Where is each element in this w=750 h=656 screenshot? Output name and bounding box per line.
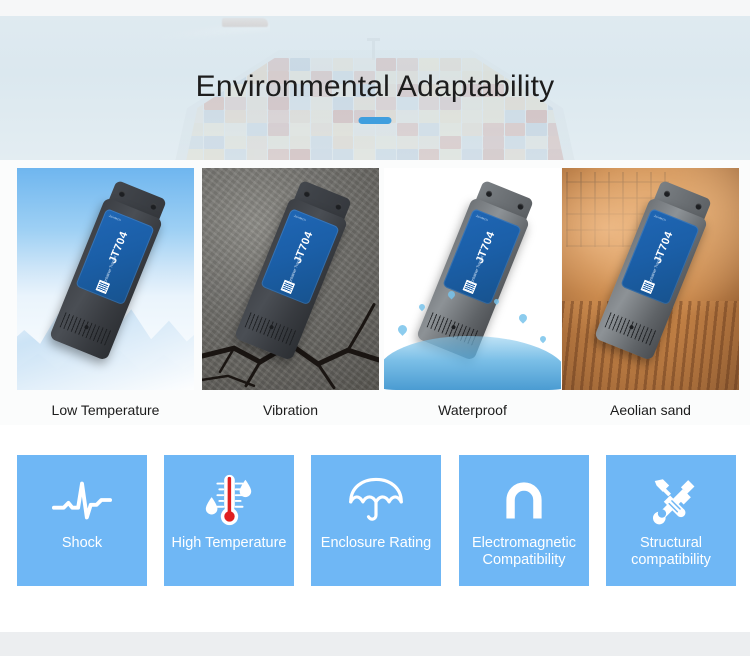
feature-card-structural-compatibility[interactable]: Structural compatibility: [606, 455, 736, 586]
feature-card-label: Structural compatibility: [606, 535, 736, 569]
bottom-white-area: [0, 610, 750, 632]
mount-hole-right: [516, 203, 524, 211]
mount-hole-right: [149, 203, 157, 211]
environmental-adaptability-page: Environmental Adaptability Jointech: [0, 0, 750, 656]
photo-cards-row: Jointech JT704 Container Tracker Low Tem…: [0, 160, 750, 425]
device-qr-code: [95, 280, 109, 294]
device-brand-text: Jointech: [293, 214, 306, 222]
cargo-container: [483, 136, 504, 149]
water-droplet: [539, 335, 547, 343]
cargo-container: [419, 123, 440, 136]
feature-card-electromagnetic-compatibility[interactable]: Electromagnetic Compatibility: [459, 455, 589, 586]
cargo-container: [483, 110, 504, 123]
feature-card-label: Shock: [57, 535, 107, 552]
mount-hole-left: [485, 190, 493, 198]
photo-caption: Waterproof: [384, 402, 561, 418]
cargo-container: [225, 123, 246, 136]
cargo-container: [526, 123, 547, 136]
water-droplet: [396, 323, 409, 336]
photo-caption: Vibration: [202, 402, 379, 418]
cargo-container: [505, 149, 526, 160]
cargo-container: [526, 136, 547, 149]
cargo-container: [204, 136, 225, 149]
cargo-container: [354, 149, 375, 160]
cargo-container: [440, 149, 461, 160]
cargo-container: [419, 110, 440, 123]
feature-card-label: Electromagnetic Compatibility: [459, 535, 589, 569]
wrench-screwdriver-icon: [640, 471, 702, 529]
cargo-container: [376, 149, 397, 160]
cargo-container: [462, 149, 483, 160]
cargo-container: [440, 136, 461, 149]
cargo-container: [290, 136, 311, 149]
cargo-container: [419, 149, 440, 160]
feature-cards-row: Shock: [0, 440, 750, 610]
cargo-container: [311, 123, 332, 136]
photo-card-vibration[interactable]: Jointech JT704 Container Tracker Vibrati…: [202, 168, 379, 390]
photo-caption: Low Temperature: [17, 402, 194, 418]
cargo-container: [419, 136, 440, 149]
cargo-container: [290, 123, 311, 136]
device-vent-grille: [604, 312, 656, 346]
device-brand-text: Jointech: [108, 214, 121, 222]
mount-hole-left: [118, 190, 126, 198]
cargo-container: [268, 136, 289, 149]
feature-card-high-temperature[interactable]: High Temperature: [164, 455, 294, 586]
feature-card-enclosure-rating[interactable]: Enclosure Rating: [311, 455, 441, 586]
cargo-container: [376, 136, 397, 149]
cargo-container: [483, 149, 504, 160]
umbrella-icon: [345, 471, 407, 529]
cargo-container: [440, 123, 461, 136]
device-brand-text: Jointech: [653, 214, 666, 222]
cargo-container: [225, 110, 246, 123]
mount-hole-left: [663, 190, 671, 198]
cargo-container: [290, 110, 311, 123]
device-qr-code: [640, 280, 654, 294]
cargo-container: [247, 123, 268, 136]
cargo-container: [462, 136, 483, 149]
cargo-container: [483, 123, 504, 136]
container-row: [182, 136, 568, 149]
water-droplet: [418, 303, 426, 311]
distant-ship: [222, 18, 268, 27]
cargo-container: [333, 149, 354, 160]
mount-hole-left: [303, 190, 311, 198]
cargo-container: [247, 110, 268, 123]
title-accent-bar: [359, 117, 392, 124]
cargo-container: [225, 136, 246, 149]
cargo-container: [204, 123, 225, 136]
pulse-waveform-icon: [51, 471, 113, 529]
cargo-container: [397, 149, 418, 160]
cargo-container: [526, 149, 547, 160]
cargo-container: [225, 149, 246, 160]
cargo-container: [268, 149, 289, 160]
device-brand-text: Jointech: [475, 214, 488, 222]
cargo-container: [462, 110, 483, 123]
cargo-container: [204, 110, 225, 123]
cargo-container: [505, 110, 526, 123]
feature-card-shock[interactable]: Shock: [17, 455, 147, 586]
photo-card-aeolian-sand[interactable]: Jointech JT704 Container Tracker Aeolian…: [562, 168, 739, 390]
cargo-container: [247, 149, 268, 160]
cargo-container: [311, 149, 332, 160]
device-vent-grille: [244, 312, 296, 346]
device-qr-code: [280, 280, 294, 294]
top-spacer-strip: [0, 0, 750, 16]
cargo-container: [462, 123, 483, 136]
feature-card-label: High Temperature: [167, 535, 292, 552]
photo-frame-cracked-earth: Jointech JT704 Container Tracker: [202, 168, 379, 390]
cargo-container: [354, 136, 375, 149]
cargo-container: [397, 110, 418, 123]
container-row: [182, 123, 568, 136]
cargo-container: [397, 136, 418, 149]
feature-card-label: Enclosure Rating: [316, 535, 436, 552]
water-splash-overlay: [384, 297, 561, 390]
cargo-container: [354, 123, 375, 136]
cargo-container: [311, 110, 332, 123]
photo-caption: Aeolian sand: [562, 402, 739, 418]
water-droplet: [493, 298, 500, 305]
cargo-container: [333, 123, 354, 136]
photo-card-low-temperature[interactable]: Jointech JT704 Container Tracker Low Tem…: [17, 168, 194, 390]
photo-frame-snow: Jointech JT704 Container Tracker: [17, 168, 194, 390]
page-title: Environmental Adaptability: [0, 70, 750, 104]
ship-mast: [372, 38, 375, 60]
cargo-container: [440, 110, 461, 123]
cargo-container: [333, 136, 354, 149]
cargo-container: [290, 149, 311, 160]
cargo-container: [505, 136, 526, 149]
splash-body: [384, 336, 561, 390]
photo-frame-desert: Jointech JT704 Container Tracker: [562, 168, 739, 390]
magnet-icon: [493, 471, 555, 529]
device-vent-grille: [59, 312, 111, 346]
cargo-container: [526, 110, 547, 123]
photo-card-waterproof[interactable]: Jointech JT704 Container Tracker: [384, 168, 561, 390]
device-qr-code: [462, 280, 476, 294]
cargo-container: [397, 123, 418, 136]
cargo-container: [204, 149, 225, 160]
cargo-container: [376, 123, 397, 136]
bottom-spacer-strip: [0, 632, 750, 656]
container-row: [182, 149, 568, 160]
cargo-container: [268, 123, 289, 136]
cargo-container: [268, 110, 289, 123]
photo-frame-water: Jointech JT704 Container Tracker: [384, 168, 561, 390]
cargo-container: [505, 123, 526, 136]
thermometer-icon: [198, 471, 260, 529]
cargo-container: [247, 136, 268, 149]
water-droplet: [517, 312, 528, 323]
cargo-container: [311, 136, 332, 149]
mount-hole-right: [694, 203, 702, 211]
mount-hole-right: [334, 203, 342, 211]
cargo-container: [333, 110, 354, 123]
